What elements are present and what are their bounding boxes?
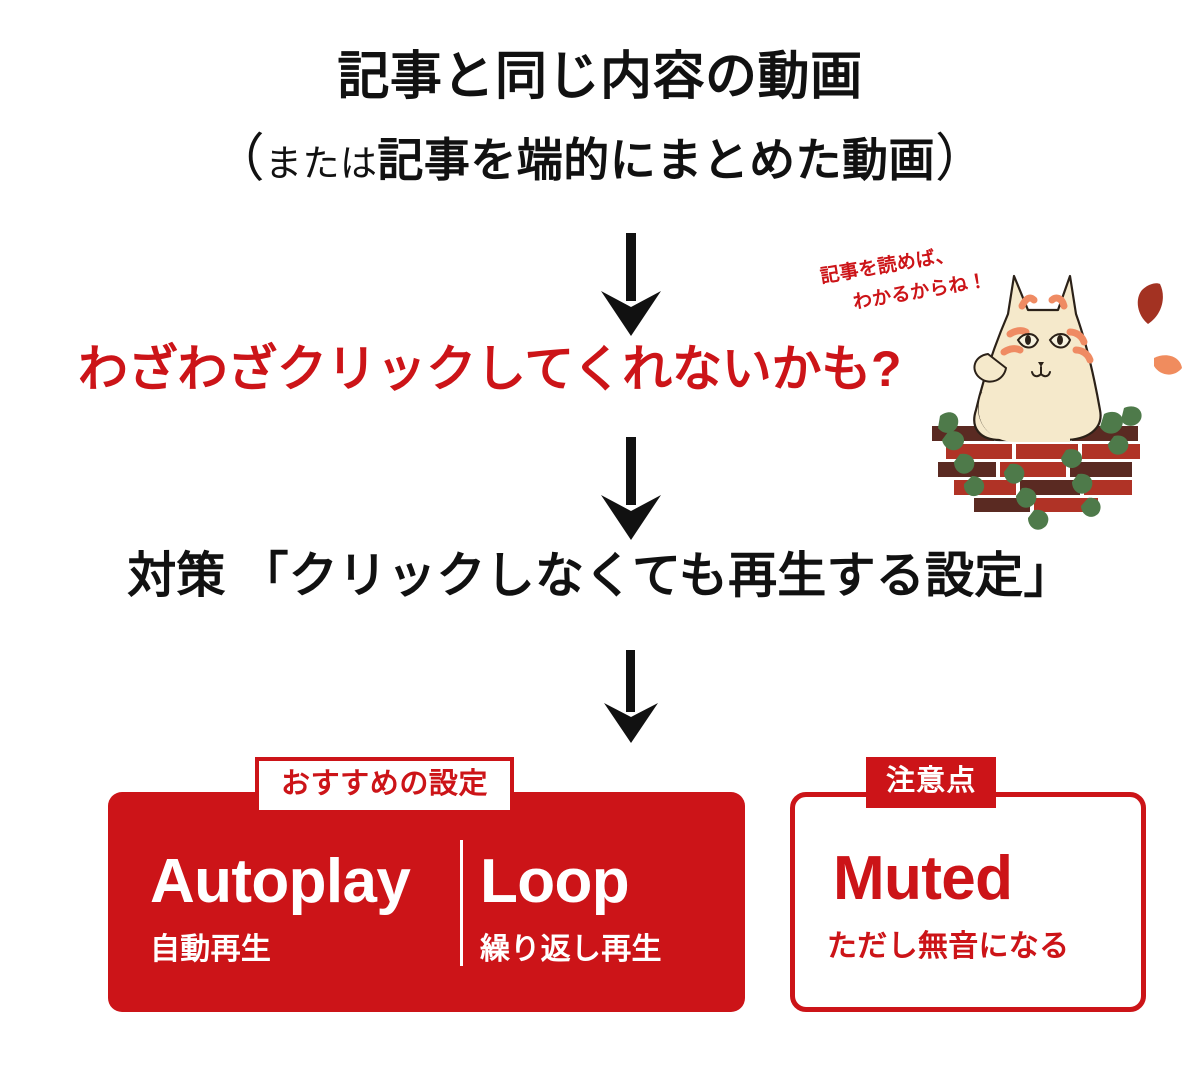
down-arrow-icon-2 bbox=[600, 437, 662, 540]
open-paren: （ bbox=[213, 130, 265, 188]
setting-autoplay: Autoplay 自動再生 bbox=[150, 847, 410, 969]
setting-autoplay-ja: 自動再生 bbox=[150, 931, 410, 969]
close-paren: ） bbox=[935, 130, 987, 188]
caution-box: Muted ただし無音になる bbox=[790, 792, 1146, 1012]
infographic-canvas: 記事と同じ内容の動画 （または記事を端的にまとめた動画） わざわざクリックしてく… bbox=[0, 0, 1200, 1080]
measure-text: 対策 「クリックしなくても再生する設定」 bbox=[0, 545, 1200, 607]
caution-label-badge: 注意点 bbox=[866, 757, 996, 808]
headline-bold-text: 記事を端的にまとめた動画 bbox=[377, 134, 935, 186]
recommended-settings-box: Autoplay 自動再生 Loop 繰り返し再生 bbox=[108, 792, 745, 1012]
cat-illustration bbox=[918, 258, 1158, 533]
page-title: 記事と同じ内容の動画 bbox=[0, 46, 1200, 108]
question-text: わざわざクリックしてくれないかも? bbox=[0, 338, 901, 400]
caution-ja: ただし無音になる bbox=[827, 928, 1069, 966]
down-arrow-icon-3 bbox=[603, 650, 659, 743]
caution-en: Muted bbox=[833, 844, 1012, 914]
cat-body bbox=[974, 276, 1100, 442]
setting-loop: Loop 繰り返し再生 bbox=[480, 847, 662, 969]
recommended-label-badge: おすすめの設定 bbox=[255, 757, 514, 814]
setting-autoplay-en: Autoplay bbox=[150, 847, 410, 917]
headline-subline: （または記事を端的にまとめた動画） bbox=[0, 130, 1200, 193]
down-arrow-icon-1 bbox=[600, 233, 662, 336]
column-divider bbox=[460, 840, 463, 966]
setting-loop-ja: 繰り返し再生 bbox=[480, 931, 662, 969]
setting-loop-en: Loop bbox=[480, 847, 662, 917]
headline-light-text: または bbox=[265, 143, 377, 184]
